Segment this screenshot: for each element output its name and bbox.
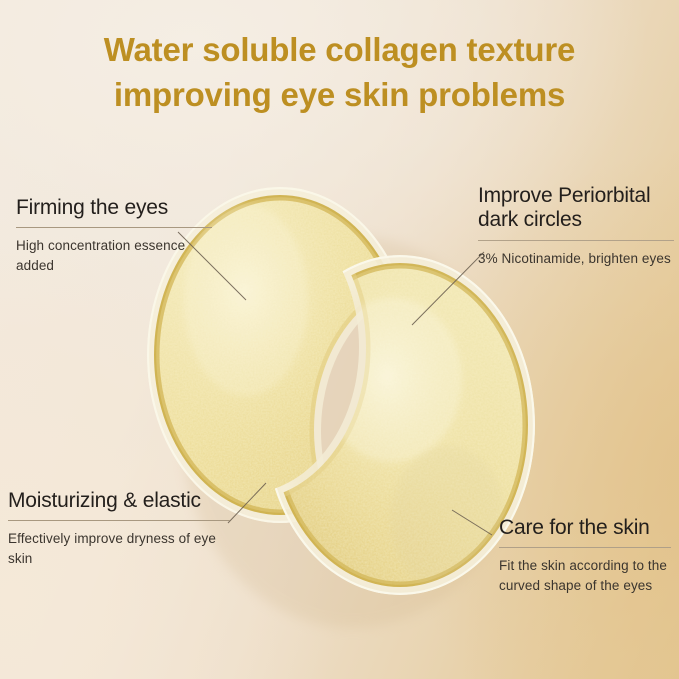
callout-firming-rule	[16, 227, 212, 228]
callout-periorbital-body: 3% Nicotinamide, brighten eyes	[478, 249, 674, 268]
callout-care: Care for the skin Fit the skin according…	[499, 516, 671, 595]
callout-care-heading: Care for the skin	[499, 516, 671, 540]
callout-care-rule	[499, 547, 671, 548]
callout-care-body: Fit the skin according to the curved sha…	[499, 556, 671, 594]
page-title: Water soluble collagen texture improving…	[0, 28, 679, 118]
callout-moisturizing: Moisturizing & elastic Effectively impro…	[8, 489, 230, 568]
callout-moisturizing-body: Effectively improve dryness of eye skin	[8, 529, 230, 567]
callout-moisturizing-heading: Moisturizing & elastic	[8, 489, 230, 513]
product-infographic: Water soluble collagen texture improving…	[0, 0, 679, 679]
callout-firming: Firming the eyes High concentration esse…	[16, 196, 212, 275]
callout-moisturizing-rule	[8, 520, 230, 521]
callout-periorbital: Improve Periorbital dark circles 3% Nico…	[478, 184, 674, 268]
callout-firming-heading: Firming the eyes	[16, 196, 212, 220]
callout-periorbital-rule	[478, 240, 674, 241]
callout-firming-body: High concentration essence added	[16, 236, 212, 274]
callout-periorbital-heading: Improve Periorbital dark circles	[478, 184, 674, 233]
